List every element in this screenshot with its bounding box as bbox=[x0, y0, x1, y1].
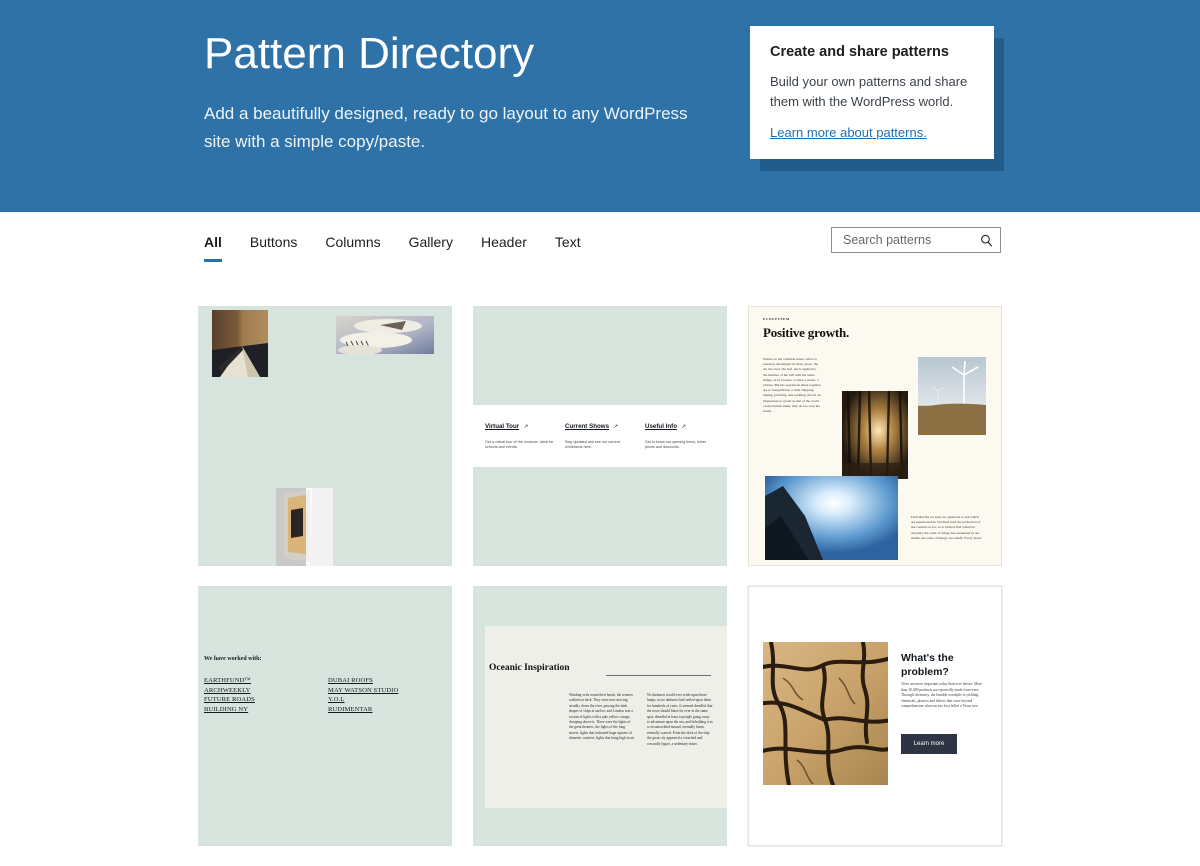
column-body: Stay updated and see our current exhibit… bbox=[565, 440, 635, 450]
learn-more-button[interactable]: Learn more bbox=[901, 734, 957, 754]
tab-columns[interactable]: Columns bbox=[311, 226, 394, 262]
worked-with-heading: We have worked with: bbox=[204, 656, 262, 662]
wind-turbine-photo bbox=[918, 357, 986, 435]
tab-gallery[interactable]: Gallery bbox=[395, 226, 467, 262]
external-link-arrow-icon: ↗ bbox=[613, 424, 618, 430]
promo-body: Build your own patterns and share them w… bbox=[770, 72, 974, 112]
forest-sunlight-photo bbox=[842, 391, 908, 479]
client-item[interactable]: MAY WATSON STUDIO bbox=[328, 686, 398, 696]
client-list-column-b: DUBAI ROOFS MAY WATSON STUDIO Y.O.L RUDI… bbox=[328, 676, 398, 714]
tab-header[interactable]: Header bbox=[467, 226, 541, 262]
external-link-arrow-icon: ↗ bbox=[681, 424, 686, 430]
column-heading[interactable]: Virtual Tour bbox=[485, 423, 519, 430]
client-item[interactable]: BUILDING NY bbox=[204, 705, 255, 715]
kicker-label: ECOSYSTEM bbox=[763, 317, 790, 321]
cracked-dry-earth-photo bbox=[763, 642, 888, 785]
external-link-arrow-icon: ↗ bbox=[524, 424, 529, 430]
pattern-card-oceanic-inspiration[interactable]: Oceanic Inspiration Winding veils round … bbox=[473, 586, 727, 846]
pattern-grid-row: We have worked with: EARTHFUND™ ARCHWEEK… bbox=[198, 586, 1004, 846]
card-dot-texture bbox=[198, 586, 452, 846]
client-item[interactable]: ARCHWEEKLY bbox=[204, 686, 255, 696]
pattern-card-whats-the-problem[interactable]: What's the problem? Trees are more impor… bbox=[748, 586, 1002, 846]
three-column-band: Virtual Tour ↗ Get a virtual tour of the… bbox=[473, 405, 727, 467]
editorial-paragraph-2: Undoubtedly we have no questions to ask … bbox=[911, 515, 983, 541]
page-subtitle: Add a beautifully designed, ready to go … bbox=[204, 100, 704, 156]
page-title: Pattern Directory bbox=[204, 28, 534, 80]
pattern-card-three-links[interactable]: Virtual Tour ↗ Get a virtual tour of the… bbox=[473, 306, 727, 566]
filter-bar: All Buttons Columns Gallery Header Text bbox=[0, 212, 1200, 290]
column-heading[interactable]: Useful Info bbox=[645, 423, 677, 430]
oceanic-paragraph-1: Winding veils round their heads, the wom… bbox=[569, 693, 635, 747]
pattern-card-positive-growth[interactable]: ECOSYSTEM Positive growth. Nature, in th… bbox=[748, 306, 1002, 566]
oceanic-title: Oceanic Inspiration bbox=[489, 663, 570, 673]
ceramic-objects-photo bbox=[336, 316, 434, 354]
problem-title: What's the problem? bbox=[901, 651, 987, 679]
search-box[interactable] bbox=[831, 227, 1001, 253]
oceanic-paragraph-2: No darkness would ever settle upon those… bbox=[647, 693, 713, 747]
search-icon[interactable] bbox=[979, 233, 994, 248]
promo-title: Create and share patterns bbox=[770, 42, 974, 62]
column-useful-info: Useful Info ↗ Get to know our opening ti… bbox=[645, 415, 715, 467]
column-body: Get a virtual tour of the museum. Ideal … bbox=[485, 440, 555, 450]
editorial-paragraph-1: Nature, in the common sense, refers to e… bbox=[763, 357, 821, 414]
tab-text[interactable]: Text bbox=[541, 226, 595, 262]
book-page-photo bbox=[276, 488, 333, 566]
client-item[interactable]: RUDIMENTAR bbox=[328, 705, 398, 715]
client-list-column-a: EARTHFUND™ ARCHWEEKLY FUTURE ROADS BUILD… bbox=[204, 676, 255, 714]
tab-all[interactable]: All bbox=[202, 226, 236, 262]
column-virtual-tour: Virtual Tour ↗ Get a virtual tour of the… bbox=[485, 415, 555, 467]
page-header: Pattern Directory Add a beautifully desi… bbox=[0, 0, 1200, 212]
pattern-card-worked-with[interactable]: We have worked with: EARTHFUND™ ARCHWEEK… bbox=[198, 586, 452, 846]
client-item[interactable]: EARTHFUND™ bbox=[204, 676, 255, 686]
client-item[interactable]: FUTURE ROADS bbox=[204, 695, 255, 705]
column-body: Get to know our opening times, ticket pr… bbox=[645, 440, 715, 450]
learn-more-about-patterns-link[interactable]: Learn more about patterns. bbox=[770, 124, 927, 142]
pattern-card-scattered-gallery[interactable] bbox=[198, 306, 452, 566]
column-current-shows: Current Shows ↗ Stay updated and see our… bbox=[565, 415, 635, 467]
paper-fold-photo bbox=[212, 310, 268, 377]
column-heading[interactable]: Current Shows bbox=[565, 423, 609, 430]
title-divider bbox=[606, 675, 711, 676]
create-share-patterns-card: Create and share patterns Build your own… bbox=[750, 26, 994, 159]
tab-buttons[interactable]: Buttons bbox=[236, 226, 311, 262]
oceanic-columns: Winding veils round their heads, the wom… bbox=[569, 693, 713, 747]
pattern-grid: Virtual Tour ↗ Get a virtual tour of the… bbox=[198, 306, 1004, 866]
pattern-grid-row: Virtual Tour ↗ Get a virtual tour of the… bbox=[198, 306, 1004, 566]
search-input[interactable] bbox=[841, 232, 979, 248]
problem-body: Trees are more important today than ever… bbox=[901, 682, 987, 710]
sun-over-mountain-photo bbox=[765, 476, 898, 560]
client-item[interactable]: Y.O.L bbox=[328, 695, 398, 705]
editorial-title: Positive growth. bbox=[763, 325, 849, 341]
client-item[interactable]: DUBAI ROOFS bbox=[328, 676, 398, 686]
category-tabs: All Buttons Columns Gallery Header Text bbox=[202, 226, 595, 262]
